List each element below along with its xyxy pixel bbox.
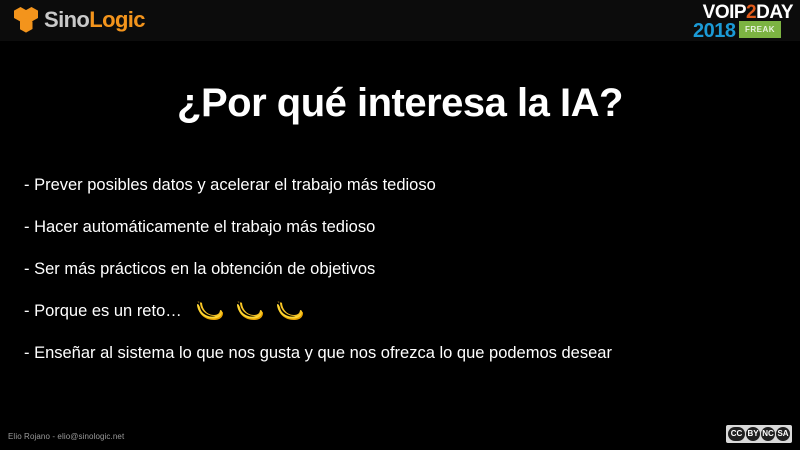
slide-canvas: SinoLogic VOIP2DAY 2018 FREAK ¿Por qué i… (0, 0, 800, 450)
bullet-text: - Ser más prácticos en la obtención de o… (24, 258, 375, 280)
bullet-text: - Porque es un reto… (24, 300, 182, 322)
brand-name-part1: Sino (44, 7, 89, 32)
cc-chip-by: BY (746, 427, 760, 441)
list-item: - Ser más prácticos en la obtención de o… (24, 248, 764, 290)
sinologic-logo: SinoLogic (14, 5, 145, 35)
page-title: ¿Por qué interesa la IA? (0, 79, 800, 127)
creative-commons-license-icon: CC BY NC SA (726, 425, 792, 443)
list-item: - Prever posibles datos y acelerar el tr… (24, 164, 764, 206)
list-item: - Enseñar al sistema lo que nos gusta y … (24, 332, 764, 374)
event-name-suffix: DAY (756, 2, 793, 23)
banana-emoji (236, 300, 264, 322)
banana-emoji (196, 300, 224, 322)
brand-wordmark: SinoLogic (44, 9, 145, 31)
cc-chip-nc: NC (761, 427, 775, 441)
bullet-list: - Prever posibles datos y acelerar el tr… (24, 164, 764, 374)
cc-chip-cc: CC (728, 427, 745, 441)
list-item: - Hacer automáticamente el trabajo más t… (24, 206, 764, 248)
honeycomb-hexagons-icon (14, 6, 40, 34)
event-name-digit: 2 (746, 2, 756, 23)
bullet-text: - Enseñar al sistema lo que nos gusta y … (24, 342, 612, 364)
banana-emoji (276, 300, 304, 322)
event-year: 2018 (693, 21, 736, 41)
cc-chip-sa: SA (776, 427, 790, 441)
list-item: - Porque es un reto… (24, 290, 764, 332)
bullet-text: - Hacer automáticamente el trabajo más t… (24, 216, 375, 238)
brand-name-part2: Logic (89, 7, 145, 32)
freak-badge: FREAK (739, 21, 781, 38)
banana-emoji-group (196, 300, 304, 322)
bullet-text: - Prever posibles datos y acelerar el tr… (24, 174, 436, 196)
voip2day-logo: VOIP2DAY 2018 FREAK (685, 3, 793, 41)
footer-credit: Elio Rojano - elio@sinologic.net (8, 431, 124, 442)
